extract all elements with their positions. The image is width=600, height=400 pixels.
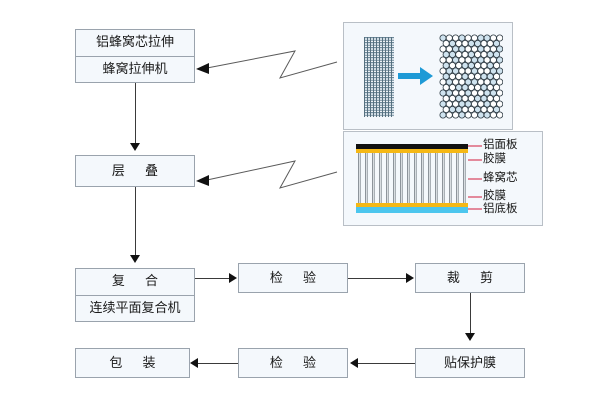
compressed-honeycomb-block bbox=[364, 37, 394, 117]
arrowhead-right-inspect1 bbox=[229, 273, 237, 283]
sandwich-structure bbox=[356, 144, 468, 216]
layer-label-core: 蜂窝芯 bbox=[483, 172, 518, 184]
leader-line-core bbox=[468, 178, 482, 180]
layer-label-adhesive-bottom: 胶膜 bbox=[483, 190, 506, 202]
callout-connector-honeycomb bbox=[195, 40, 340, 90]
layer-label-face-panel: 铝面板 bbox=[483, 139, 518, 151]
process-label-cut: 裁 剪 bbox=[416, 264, 524, 292]
callout-connector-sandwich bbox=[195, 152, 340, 200]
process-box-package[interactable]: 包 装 bbox=[75, 348, 190, 378]
process-box-protective-film[interactable]: 贴保护膜 bbox=[415, 348, 525, 378]
leader-line-face-panel bbox=[468, 145, 482, 147]
connector-film-to-inspect2 bbox=[358, 363, 415, 364]
layer-label-adhesive-top: 胶膜 bbox=[483, 153, 506, 165]
process-label-inspect-2: 检 验 bbox=[239, 349, 347, 377]
arrowhead-down-film bbox=[465, 333, 475, 341]
process-label-inspect-1: 检 验 bbox=[239, 264, 347, 292]
illustration-panel-honeycomb-stretch bbox=[343, 22, 513, 130]
process-box-cut[interactable]: 裁 剪 bbox=[415, 263, 525, 293]
process-box-inspect-2[interactable]: 检 验 bbox=[238, 348, 348, 378]
process-box-stretch[interactable]: 铝蜂窝芯拉伸 蜂窝拉伸机 bbox=[75, 29, 195, 83]
expanded-honeycomb-grid bbox=[439, 33, 503, 121]
connector-inspect2-to-package bbox=[198, 363, 238, 364]
process-label-protective-film: 贴保护膜 bbox=[416, 349, 524, 377]
process-box-inspect-1[interactable]: 检 验 bbox=[238, 263, 348, 293]
illustration-panel-layer-structure: 铝面板 胶膜 蜂窝芯 胶膜 铝底板 bbox=[343, 131, 543, 226]
arrowhead-right-cut bbox=[406, 273, 414, 283]
layer-honeycomb-core bbox=[356, 153, 468, 203]
process-label-composite-machine: 连续平面复合机 bbox=[76, 295, 194, 322]
connector-stretch-to-stack bbox=[135, 83, 136, 143]
process-box-stack[interactable]: 层 叠 bbox=[75, 155, 195, 187]
arrowhead-down-stack bbox=[130, 143, 140, 151]
connector-inspect1-to-cut bbox=[348, 278, 407, 279]
stretch-arrow-icon bbox=[398, 65, 434, 87]
process-label-composite-title: 复 合 bbox=[76, 269, 194, 295]
process-box-composite[interactable]: 复 合 连续平面复合机 bbox=[75, 268, 195, 322]
layer-aluminum-base-panel bbox=[356, 207, 468, 213]
layer-label-base-panel: 铝底板 bbox=[483, 203, 518, 215]
process-label-stretch-title: 铝蜂窝芯拉伸 bbox=[76, 30, 194, 56]
connector-composite-to-inspect1 bbox=[195, 278, 230, 279]
arrowhead-left-inspect2 bbox=[350, 358, 358, 368]
leader-line-base-panel bbox=[468, 208, 482, 210]
leader-line-adhesive-top bbox=[468, 159, 482, 161]
connector-cut-to-film bbox=[470, 293, 471, 333]
process-label-stack: 层 叠 bbox=[76, 156, 194, 186]
flowchart-diagram: 铝蜂窝芯拉伸 蜂窝拉伸机 层 叠 复 合 连续平面复合机 检 验 裁 剪 贴保护… bbox=[0, 0, 600, 400]
arrowhead-left-package bbox=[190, 358, 198, 368]
arrowhead-down-composite bbox=[130, 255, 140, 263]
leader-line-adhesive-bottom bbox=[468, 196, 482, 198]
process-label-stretch-machine: 蜂窝拉伸机 bbox=[76, 56, 194, 83]
connector-stack-to-composite bbox=[135, 187, 136, 255]
process-label-package: 包 装 bbox=[76, 349, 189, 377]
